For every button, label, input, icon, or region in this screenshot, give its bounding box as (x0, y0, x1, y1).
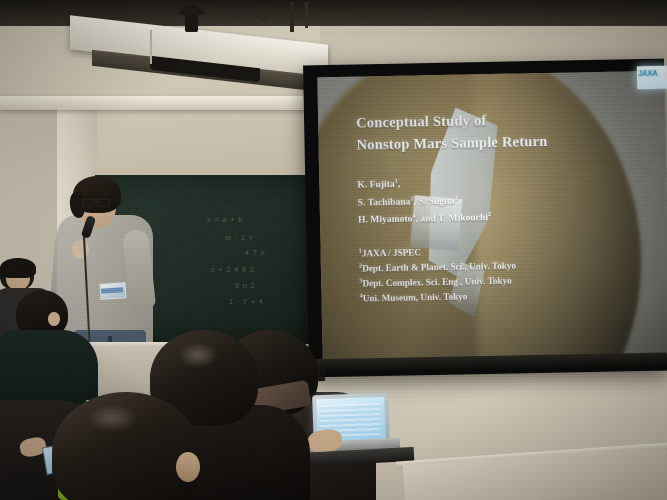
chalk-mark: m - 1 = (225, 235, 254, 242)
foreground-head-highlight (178, 342, 218, 368)
ceiling-rod (290, 2, 294, 32)
glasses-icon (82, 199, 110, 205)
screen-vignette (317, 71, 667, 364)
audience-hair (0, 258, 36, 278)
foreground-head-lower-highlight (86, 404, 138, 432)
audience-ear (48, 312, 60, 326)
ceiling-rod-secondary (305, 2, 308, 28)
foreground-ear (176, 452, 200, 482)
projection-screen: Conceptual Study of Nonstop Mars Sample … (317, 71, 667, 364)
ceiling-slab (0, 96, 330, 110)
chalk-mark: 3 n 2 (235, 283, 256, 290)
aux-wall-display: JAXA (637, 66, 667, 90)
projector-mount-icon (185, 6, 198, 32)
chalk-mark: 1 - 7 + 4 (229, 299, 264, 306)
chalk-mark: c + 2 4 8 2 (211, 267, 255, 274)
chalk-mark: x = a + b (207, 217, 243, 224)
lecture-room-photo: x = a + b m - 1 = 4 T n c + 2 4 8 2 3 n … (0, 0, 667, 500)
fixture-seam (150, 30, 152, 64)
ceiling-hook-icon (255, 4, 271, 20)
chalk-mark: 4 T n (245, 250, 266, 257)
jaxa-logo-label: JAXA (638, 69, 657, 78)
